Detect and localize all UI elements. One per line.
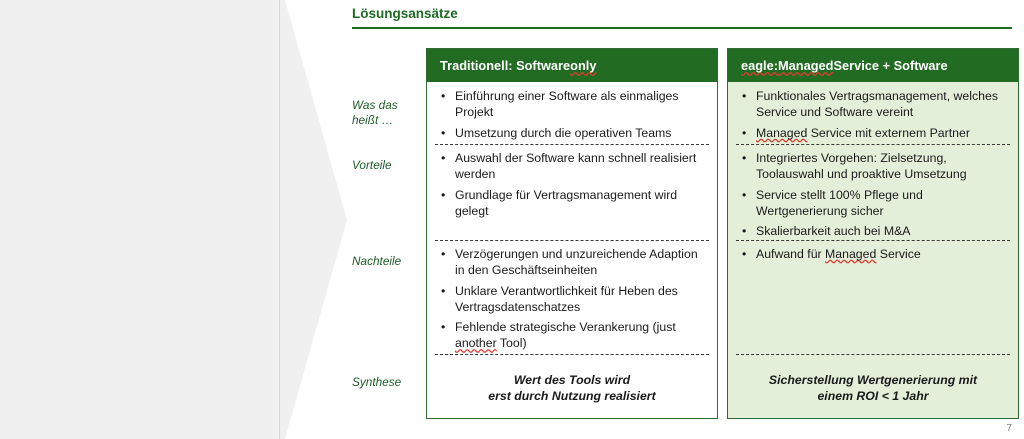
row-separator (736, 240, 1010, 241)
bullet-item: •Skalierbarkeit auch bei M&A (738, 223, 1010, 239)
column-traditionell: Traditionell: Software only •Einführung … (426, 48, 718, 419)
bullet-dot-icon: • (738, 150, 756, 183)
column-eagle-body: •Funktionales Vertragsmanagement, welche… (728, 82, 1018, 418)
bullet-text: Unklare Verantwortlichkeit für Heben des… (455, 283, 709, 316)
challenges-panel (0, 0, 285, 439)
synthesis-line: einem ROI < 1 Jahr (740, 388, 1006, 404)
bullet-text: Skalierbarkeit auch bei M&A (756, 223, 1010, 239)
arrow-wedge-shape (285, 0, 347, 439)
bullet-dot-icon: • (437, 125, 455, 141)
solutions-title-rule (352, 27, 1012, 29)
solutions-title: Lösungsansätze (352, 6, 458, 21)
row-separator (435, 240, 709, 241)
page-number: 7 (1006, 423, 1012, 434)
bullet-dot-icon: • (738, 246, 756, 262)
bullets-nachteile: •Verzögerungen und unzureichende Adaptio… (437, 246, 709, 356)
synthesis-line: erst durch Nutzung realisiert (439, 388, 705, 404)
row-label-nachteile: Nachteile (352, 254, 420, 269)
bullet-dot-icon: • (738, 88, 756, 121)
bullet-item: •Auswahl der Software kann schnell reali… (437, 150, 709, 183)
bullet-item: •Einführung einer Software als einmalige… (437, 88, 709, 121)
bullet-item: •Managed Service mit externem Partner (738, 125, 1010, 141)
bullet-dot-icon: • (738, 125, 756, 141)
row-label-was-das-heisst: Was das heißt … (352, 98, 420, 127)
column-traditionell-header: Traditionell: Software only (427, 49, 717, 82)
bullet-item: •Verzögerungen und unzureichende Adaptio… (437, 246, 709, 279)
bullet-dot-icon: • (437, 283, 455, 316)
bullet-text: Aufwand für Managed Service (756, 246, 1010, 262)
bullet-dot-icon: • (738, 223, 756, 239)
bullet-dot-icon: • (437, 319, 455, 352)
bullets-was-das-heisst: •Funktionales Vertragsmanagement, welche… (738, 88, 1010, 145)
bullet-dot-icon: • (738, 187, 756, 220)
synthesis-eagle: Sicherstellung Wertgenerierung miteinem … (740, 372, 1006, 405)
bullet-item: •Service stellt 100% Pflege und Wertgene… (738, 187, 1010, 220)
row-separator (435, 354, 709, 355)
synthesis-traditionell: Wert des Tools wirderst durch Nutzung re… (439, 372, 705, 405)
row-separator (736, 144, 1010, 145)
bullet-text: Managed Service mit externem Partner (756, 125, 1010, 141)
bullet-dot-icon: • (437, 187, 455, 220)
row-separator (435, 144, 709, 145)
bullet-dot-icon: • (437, 88, 455, 121)
bullet-text: Verzögerungen und unzureichende Adaption… (455, 246, 709, 279)
synthesis-line: Wert des Tools wird (439, 372, 705, 388)
column-eagle-header: eagle: Managed Service + Software (728, 49, 1018, 82)
bullet-item: •Funktionales Vertragsmanagement, welche… (738, 88, 1010, 121)
row-label-vorteile: Vorteile (352, 158, 420, 173)
row-label-synthese: Synthese (352, 375, 420, 390)
bullets-was-das-heisst: •Einführung einer Software als einmalige… (437, 88, 709, 145)
bullet-text: Umsetzung durch die operativen Teams (455, 125, 709, 141)
bullet-item: •Fehlende strategische Verankerung (just… (437, 319, 709, 352)
bullet-item: •Integriertes Vorgehen: Zielsetzung, Too… (738, 150, 1010, 183)
bullet-item: •Unklare Verantwortlichkeit für Heben de… (437, 283, 709, 316)
bullet-text: Integriertes Vorgehen: Zielsetzung, Tool… (756, 150, 1010, 183)
bullets-nachteile: •Aufwand für Managed Service (738, 246, 1010, 266)
bullet-item: •Grundlage für Vertragsmanagement wird g… (437, 187, 709, 220)
bullets-vorteile: •Auswahl der Software kann schnell reali… (437, 150, 709, 223)
bullet-text: Einführung einer Software als einmaliges… (455, 88, 709, 121)
column-traditionell-body: •Einführung einer Software als einmalige… (427, 82, 717, 418)
bullet-dot-icon: • (437, 150, 455, 183)
bullet-item: •Aufwand für Managed Service (738, 246, 1010, 262)
bullets-vorteile: •Integriertes Vorgehen: Zielsetzung, Too… (738, 150, 1010, 243)
row-separator (736, 354, 1010, 355)
bullet-text: Grundlage für Vertragsmanagement wird ge… (455, 187, 709, 220)
bullet-dot-icon: • (437, 246, 455, 279)
bullet-text: Service stellt 100% Pflege und Wertgener… (756, 187, 1010, 220)
synthesis-line: Sicherstellung Wertgenerierung mit (740, 372, 1006, 388)
panel-divider (279, 0, 280, 439)
bullet-text: Auswahl der Software kann schnell realis… (455, 150, 709, 183)
column-eagle: eagle: Managed Service + Software •Funkt… (727, 48, 1019, 419)
bullet-text: Funktionales Vertragsmanagement, welches… (756, 88, 1010, 121)
bullet-text: Fehlende strategische Verankerung (just … (455, 319, 709, 352)
bullet-item: •Umsetzung durch die operativen Teams (437, 125, 709, 141)
